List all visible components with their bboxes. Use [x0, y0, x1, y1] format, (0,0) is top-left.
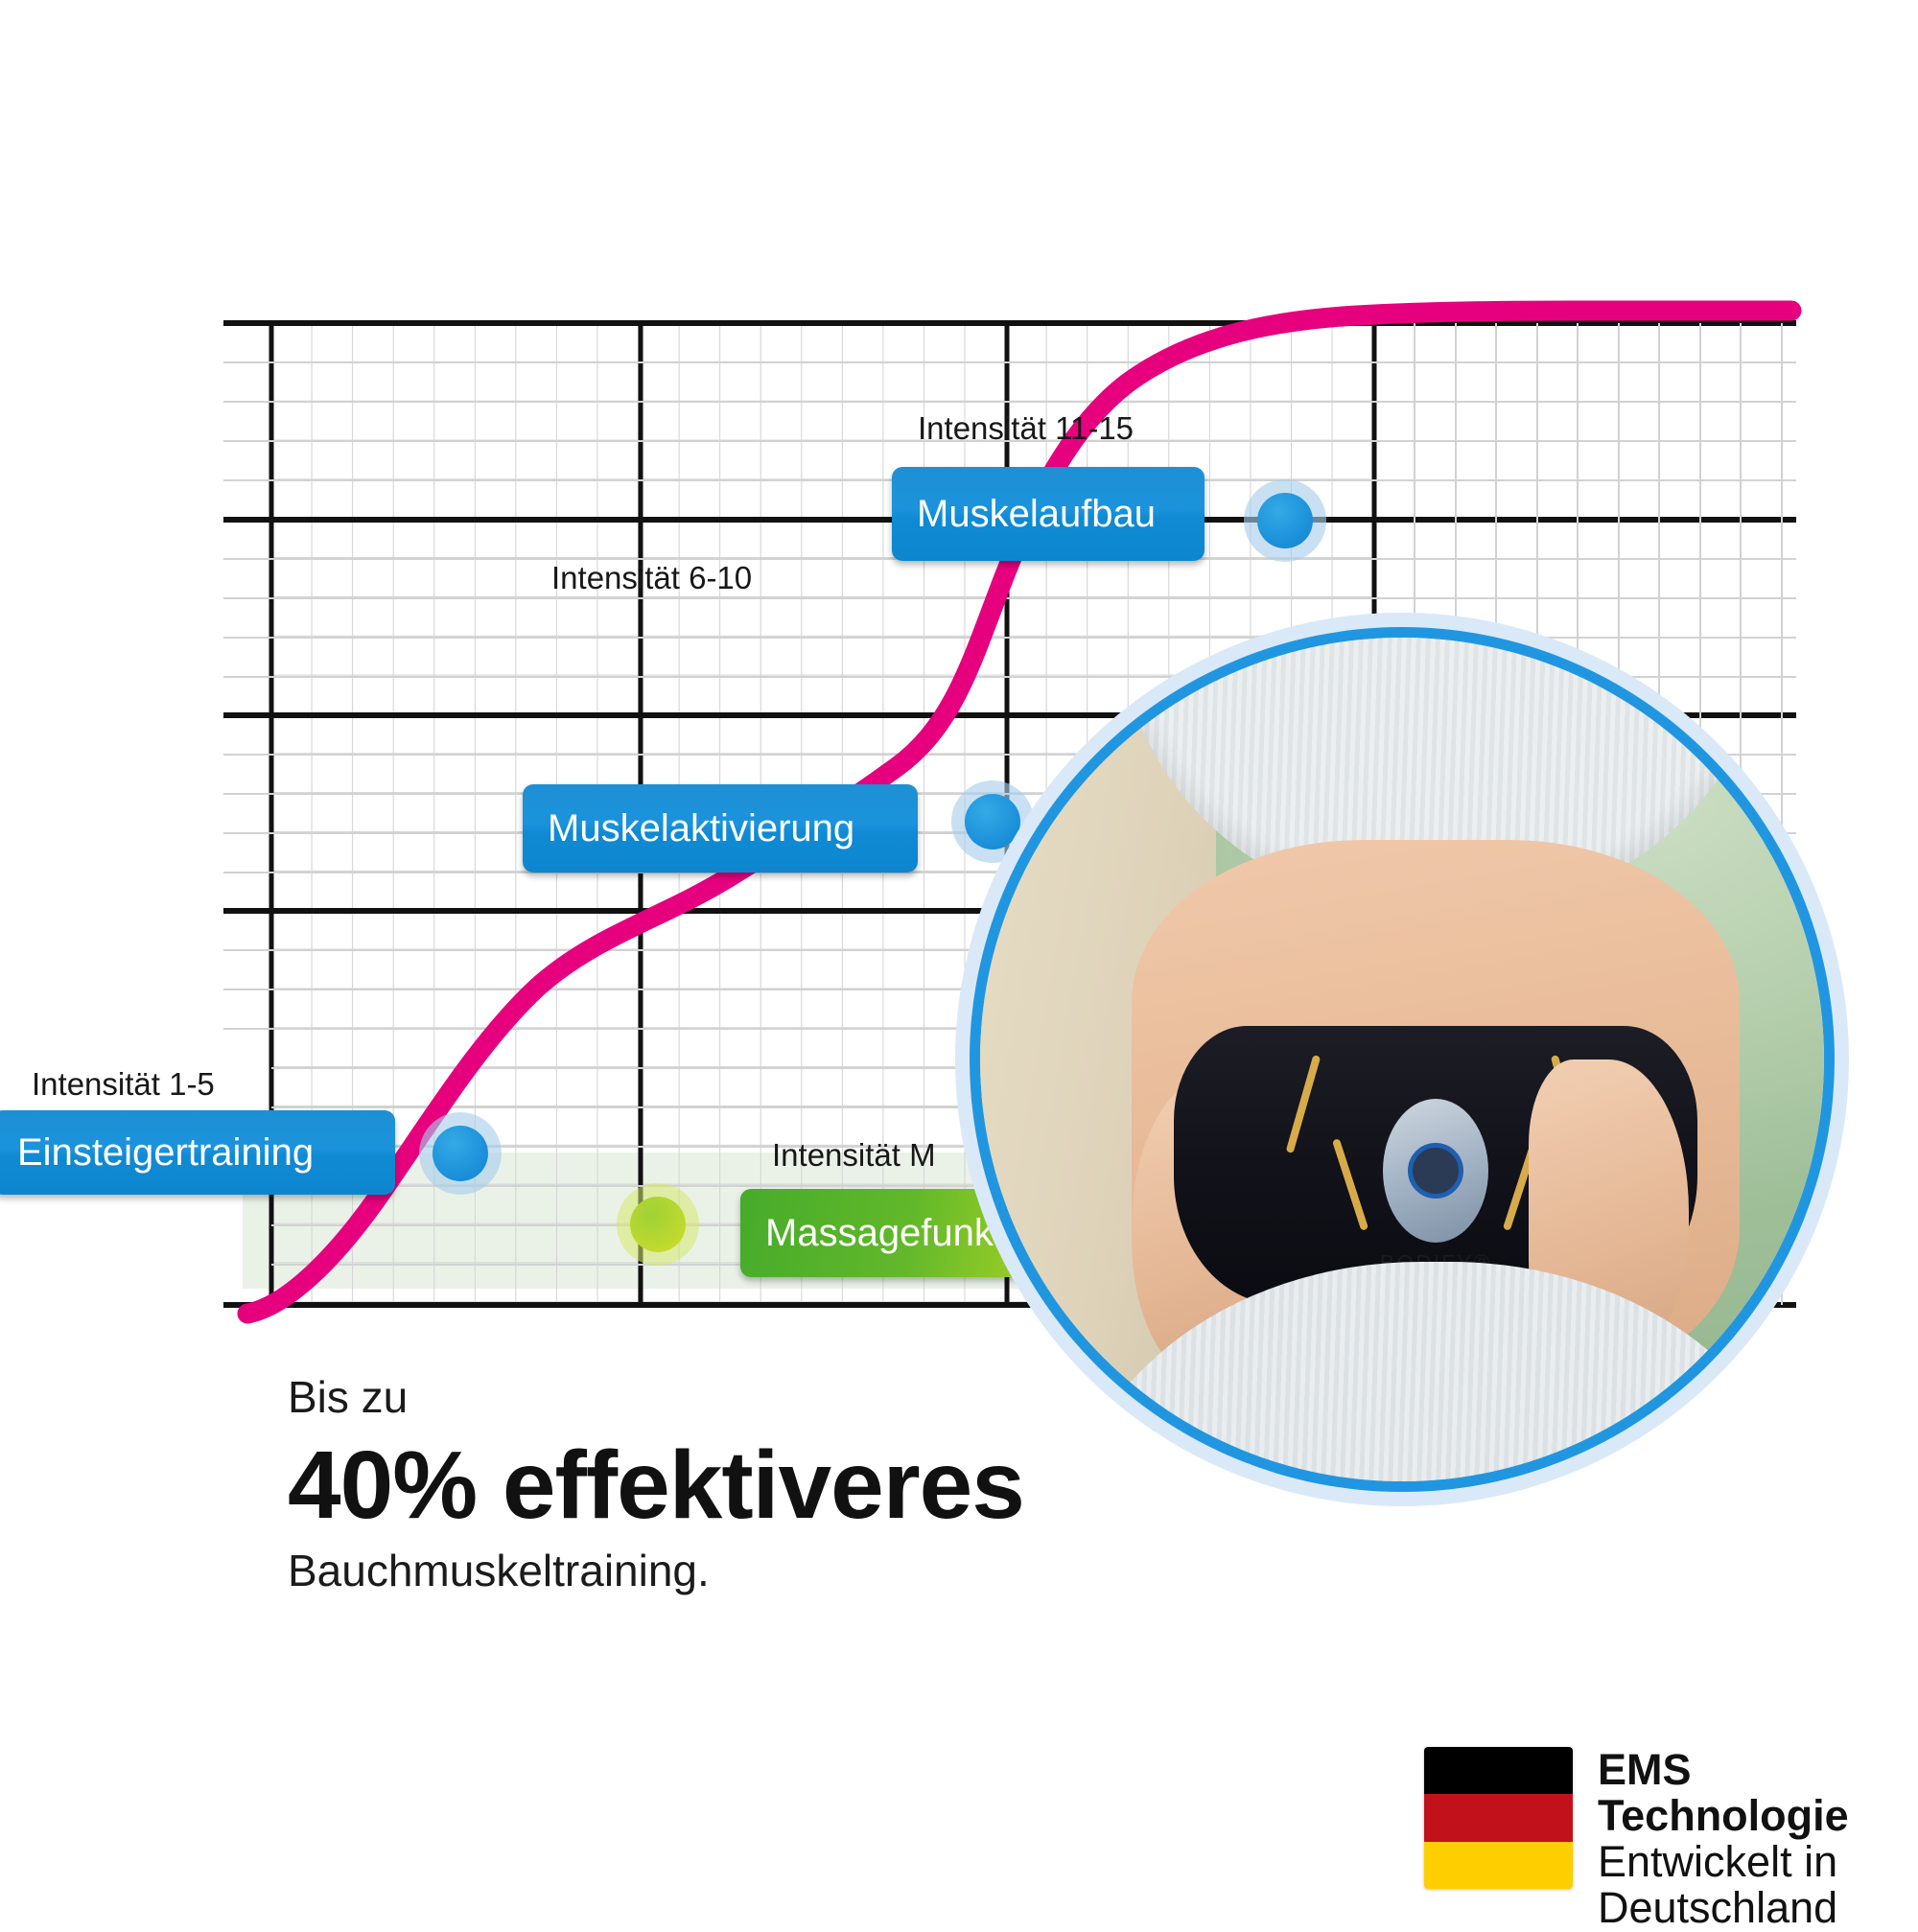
product-photo: BODIFY®: [980, 638, 1824, 1481]
marker-core: [433, 1126, 488, 1181]
marker-core: [630, 1197, 686, 1252]
footer-badge-text: EMS Technologie Entwickelt in Deutschlan…: [1598, 1747, 1918, 1932]
belt-control-panel[interactable]: [1383, 1099, 1488, 1243]
footer-line-2: Entwickelt in: [1598, 1839, 1918, 1885]
power-button-icon[interactable]: [1408, 1143, 1463, 1199]
belt-gold-line: [1332, 1138, 1368, 1230]
flag-stripe-gold: [1424, 1842, 1573, 1889]
footer-line-3: Deutschland: [1598, 1885, 1918, 1931]
pill-muskelaufbau[interactable]: Muskelaufbau: [892, 467, 1205, 561]
headline-top: Bis zu: [288, 1371, 1024, 1423]
footer-badge: EMS Technologie Entwickelt in Deutschlan…: [1424, 1747, 1918, 1932]
marker-core: [1257, 493, 1313, 548]
belt-gold-line: [1286, 1055, 1322, 1153]
headline-block: Bis zu 40% effektiveres Bauchmuskeltrain…: [288, 1371, 1024, 1596]
caption-muskelaktivierung: Intensität 6-10: [551, 560, 752, 596]
pill-muskelaktivierung[interactable]: Muskelaktivierung: [523, 784, 918, 873]
german-flag-icon: [1424, 1747, 1573, 1889]
headline-bottom: Bauchmuskeltraining.: [288, 1545, 1024, 1596]
flag-stripe-black: [1424, 1747, 1573, 1794]
caption-einsteigertraining: Intensität 1-5: [32, 1066, 215, 1103]
product-photo-circle: BODIFY®: [980, 638, 1824, 1481]
pill-einsteigertraining[interactable]: Einsteigertraining: [0, 1110, 395, 1195]
caption-massagefunktion: Intensität M: [772, 1137, 936, 1174]
footer-line-1: EMS Technologie: [1598, 1747, 1918, 1839]
headline-big: 40% effektiveres: [288, 1431, 1024, 1541]
caption-muskelaufbau: Intensität 11-15: [918, 410, 1134, 447]
flag-stripe-red: [1424, 1794, 1573, 1841]
